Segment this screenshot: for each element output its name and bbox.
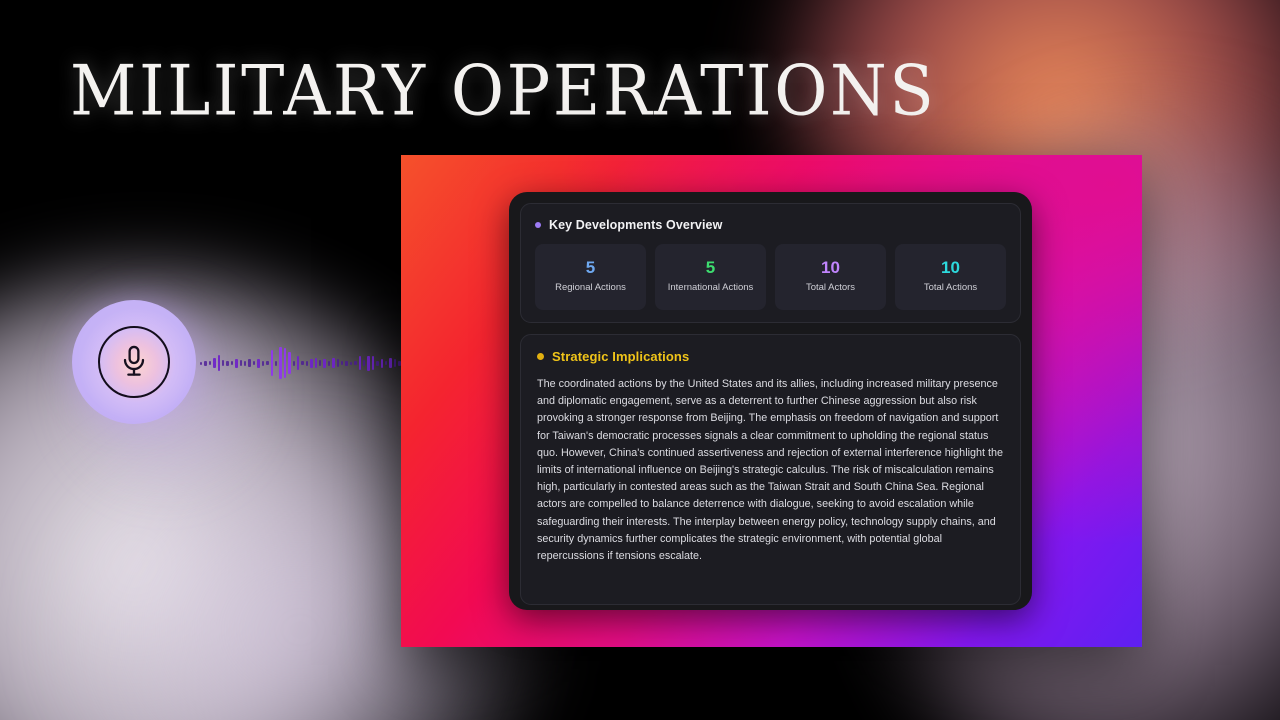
waveform-bar bbox=[372, 356, 374, 370]
waveform-bar bbox=[231, 361, 233, 365]
waveform-bar bbox=[288, 352, 290, 374]
waveform-bar bbox=[359, 356, 361, 370]
waveform-bar bbox=[394, 359, 396, 367]
slide-canvas: MILITARY OPERATIONS Key Developments Ove… bbox=[0, 0, 1280, 720]
stat-tile: 10Total Actors bbox=[775, 244, 886, 310]
stat-tile: 10Total Actions bbox=[895, 244, 1006, 310]
waveform-bar bbox=[200, 362, 202, 365]
waveform-bar bbox=[332, 358, 334, 368]
waveform-bar bbox=[213, 358, 215, 368]
microphone-icon bbox=[119, 345, 149, 379]
waveform-bar bbox=[337, 359, 339, 367]
waveform-bar bbox=[385, 361, 387, 365]
implications-header: Strategic Implications bbox=[537, 349, 1004, 364]
waveform-bar bbox=[248, 359, 250, 367]
waveform-bar bbox=[367, 356, 369, 371]
stat-value: 5 bbox=[586, 258, 595, 278]
implications-body: The coordinated actions by the United St… bbox=[537, 376, 1004, 565]
waveform-bar bbox=[266, 361, 268, 365]
waveform-bar bbox=[341, 361, 343, 365]
waveform-bar bbox=[323, 359, 325, 368]
waveform-bar bbox=[315, 358, 317, 368]
waveform-bar bbox=[354, 361, 356, 365]
waveform-bar bbox=[204, 361, 206, 366]
bullet-dot-icon bbox=[535, 222, 541, 228]
waveform-bar bbox=[209, 361, 211, 365]
waveform-bar bbox=[226, 361, 228, 366]
stat-tile: 5International Actions bbox=[655, 244, 766, 310]
stat-label: Total Actors bbox=[806, 282, 855, 295]
waveform-bar bbox=[310, 359, 312, 368]
waveform-bar bbox=[253, 361, 255, 365]
waveform-bar bbox=[301, 361, 303, 365]
waveform-bar bbox=[235, 359, 237, 368]
waveform-bar bbox=[328, 361, 330, 366]
waveform-bar bbox=[306, 361, 308, 366]
microphone-button[interactable] bbox=[72, 300, 196, 424]
waveform-bar bbox=[257, 359, 259, 368]
waveform-bar bbox=[240, 360, 242, 366]
waveform-bar bbox=[284, 348, 286, 378]
key-developments-overview-section: Key Developments Overview 5Regional Acti… bbox=[520, 203, 1021, 323]
waveform-bar bbox=[381, 359, 383, 368]
waveform-bar bbox=[293, 361, 295, 366]
stat-tile: 5Regional Actions bbox=[535, 244, 646, 310]
stat-label: Regional Actions bbox=[555, 282, 626, 295]
implications-title: Strategic Implications bbox=[552, 349, 689, 364]
waveform-bar bbox=[376, 361, 378, 366]
waveform-bar bbox=[262, 361, 264, 366]
overview-title: Key Developments Overview bbox=[549, 218, 722, 232]
stat-grid: 5Regional Actions5International Actions1… bbox=[535, 244, 1006, 310]
strategic-implications-section: Strategic Implications The coordinated a… bbox=[520, 334, 1021, 605]
waveform-bar bbox=[244, 361, 246, 366]
stat-label: Total Actions bbox=[924, 282, 977, 295]
waveform-bar bbox=[271, 350, 273, 376]
waveform-bar bbox=[297, 356, 299, 370]
overview-header: Key Developments Overview bbox=[535, 218, 1006, 232]
audio-player bbox=[72, 300, 196, 424]
page-title: MILITARY OPERATIONS bbox=[70, 56, 936, 125]
waveform-bar bbox=[279, 347, 281, 379]
stat-value: 5 bbox=[706, 258, 715, 278]
waveform-bar bbox=[319, 360, 321, 366]
waveform-bar bbox=[389, 358, 391, 368]
waveform-bar bbox=[345, 361, 347, 366]
waveform-bar bbox=[218, 355, 220, 371]
waveform-bar bbox=[275, 361, 277, 366]
stat-label: International Actions bbox=[668, 282, 754, 295]
waveform-bar bbox=[363, 360, 365, 366]
stat-value: 10 bbox=[941, 258, 960, 278]
content-card: Key Developments Overview 5Regional Acti… bbox=[509, 192, 1032, 610]
microphone-ring bbox=[98, 326, 170, 398]
stat-value: 10 bbox=[821, 258, 840, 278]
waveform-bar bbox=[222, 360, 224, 366]
waveform-bar bbox=[350, 362, 352, 365]
bullet-dot-icon bbox=[537, 353, 544, 360]
